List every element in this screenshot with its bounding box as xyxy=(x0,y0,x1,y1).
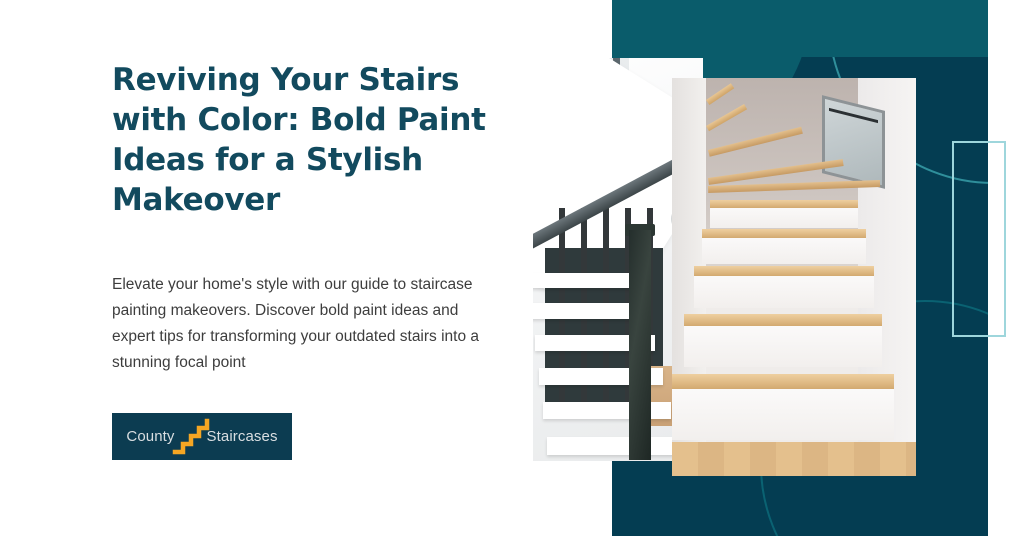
logo-word-staircases: Staircases xyxy=(207,428,278,445)
photo-front-riser xyxy=(710,206,858,228)
logo-word-county: County xyxy=(126,428,174,445)
staircase-steps-icon xyxy=(171,418,211,456)
photo-front-tread xyxy=(710,200,858,208)
photo-front-riser xyxy=(684,325,882,367)
photo-back-newel-post xyxy=(629,230,651,460)
photo-front-riser xyxy=(702,236,866,264)
decor-outline-rectangle xyxy=(952,141,1006,337)
photo-front-wood-floor xyxy=(672,442,916,476)
photo-front-tread xyxy=(672,374,894,389)
photo-front-tread xyxy=(694,266,874,276)
hero-banner: Reviving Your Stairs with Color: Bold Pa… xyxy=(0,0,1024,536)
page-title: Reviving Your Stairs with Color: Bold Pa… xyxy=(112,60,512,220)
photo-front-stair-flight xyxy=(672,78,916,476)
hero-text-column: Reviving Your Stairs with Color: Bold Pa… xyxy=(112,60,512,376)
hero-description: Elevate your home's style with our guide… xyxy=(112,272,504,376)
photo-front-tread xyxy=(702,229,866,238)
photo-front-tread xyxy=(684,314,882,326)
decor-mid-teal-band xyxy=(612,0,988,57)
photo-front-riser xyxy=(694,274,874,308)
photo-back-steps xyxy=(533,273,677,461)
brand-logo[interactable]: County Staircases xyxy=(112,413,292,460)
staircase-photo-front xyxy=(672,78,916,476)
photo-front-riser xyxy=(672,388,894,440)
